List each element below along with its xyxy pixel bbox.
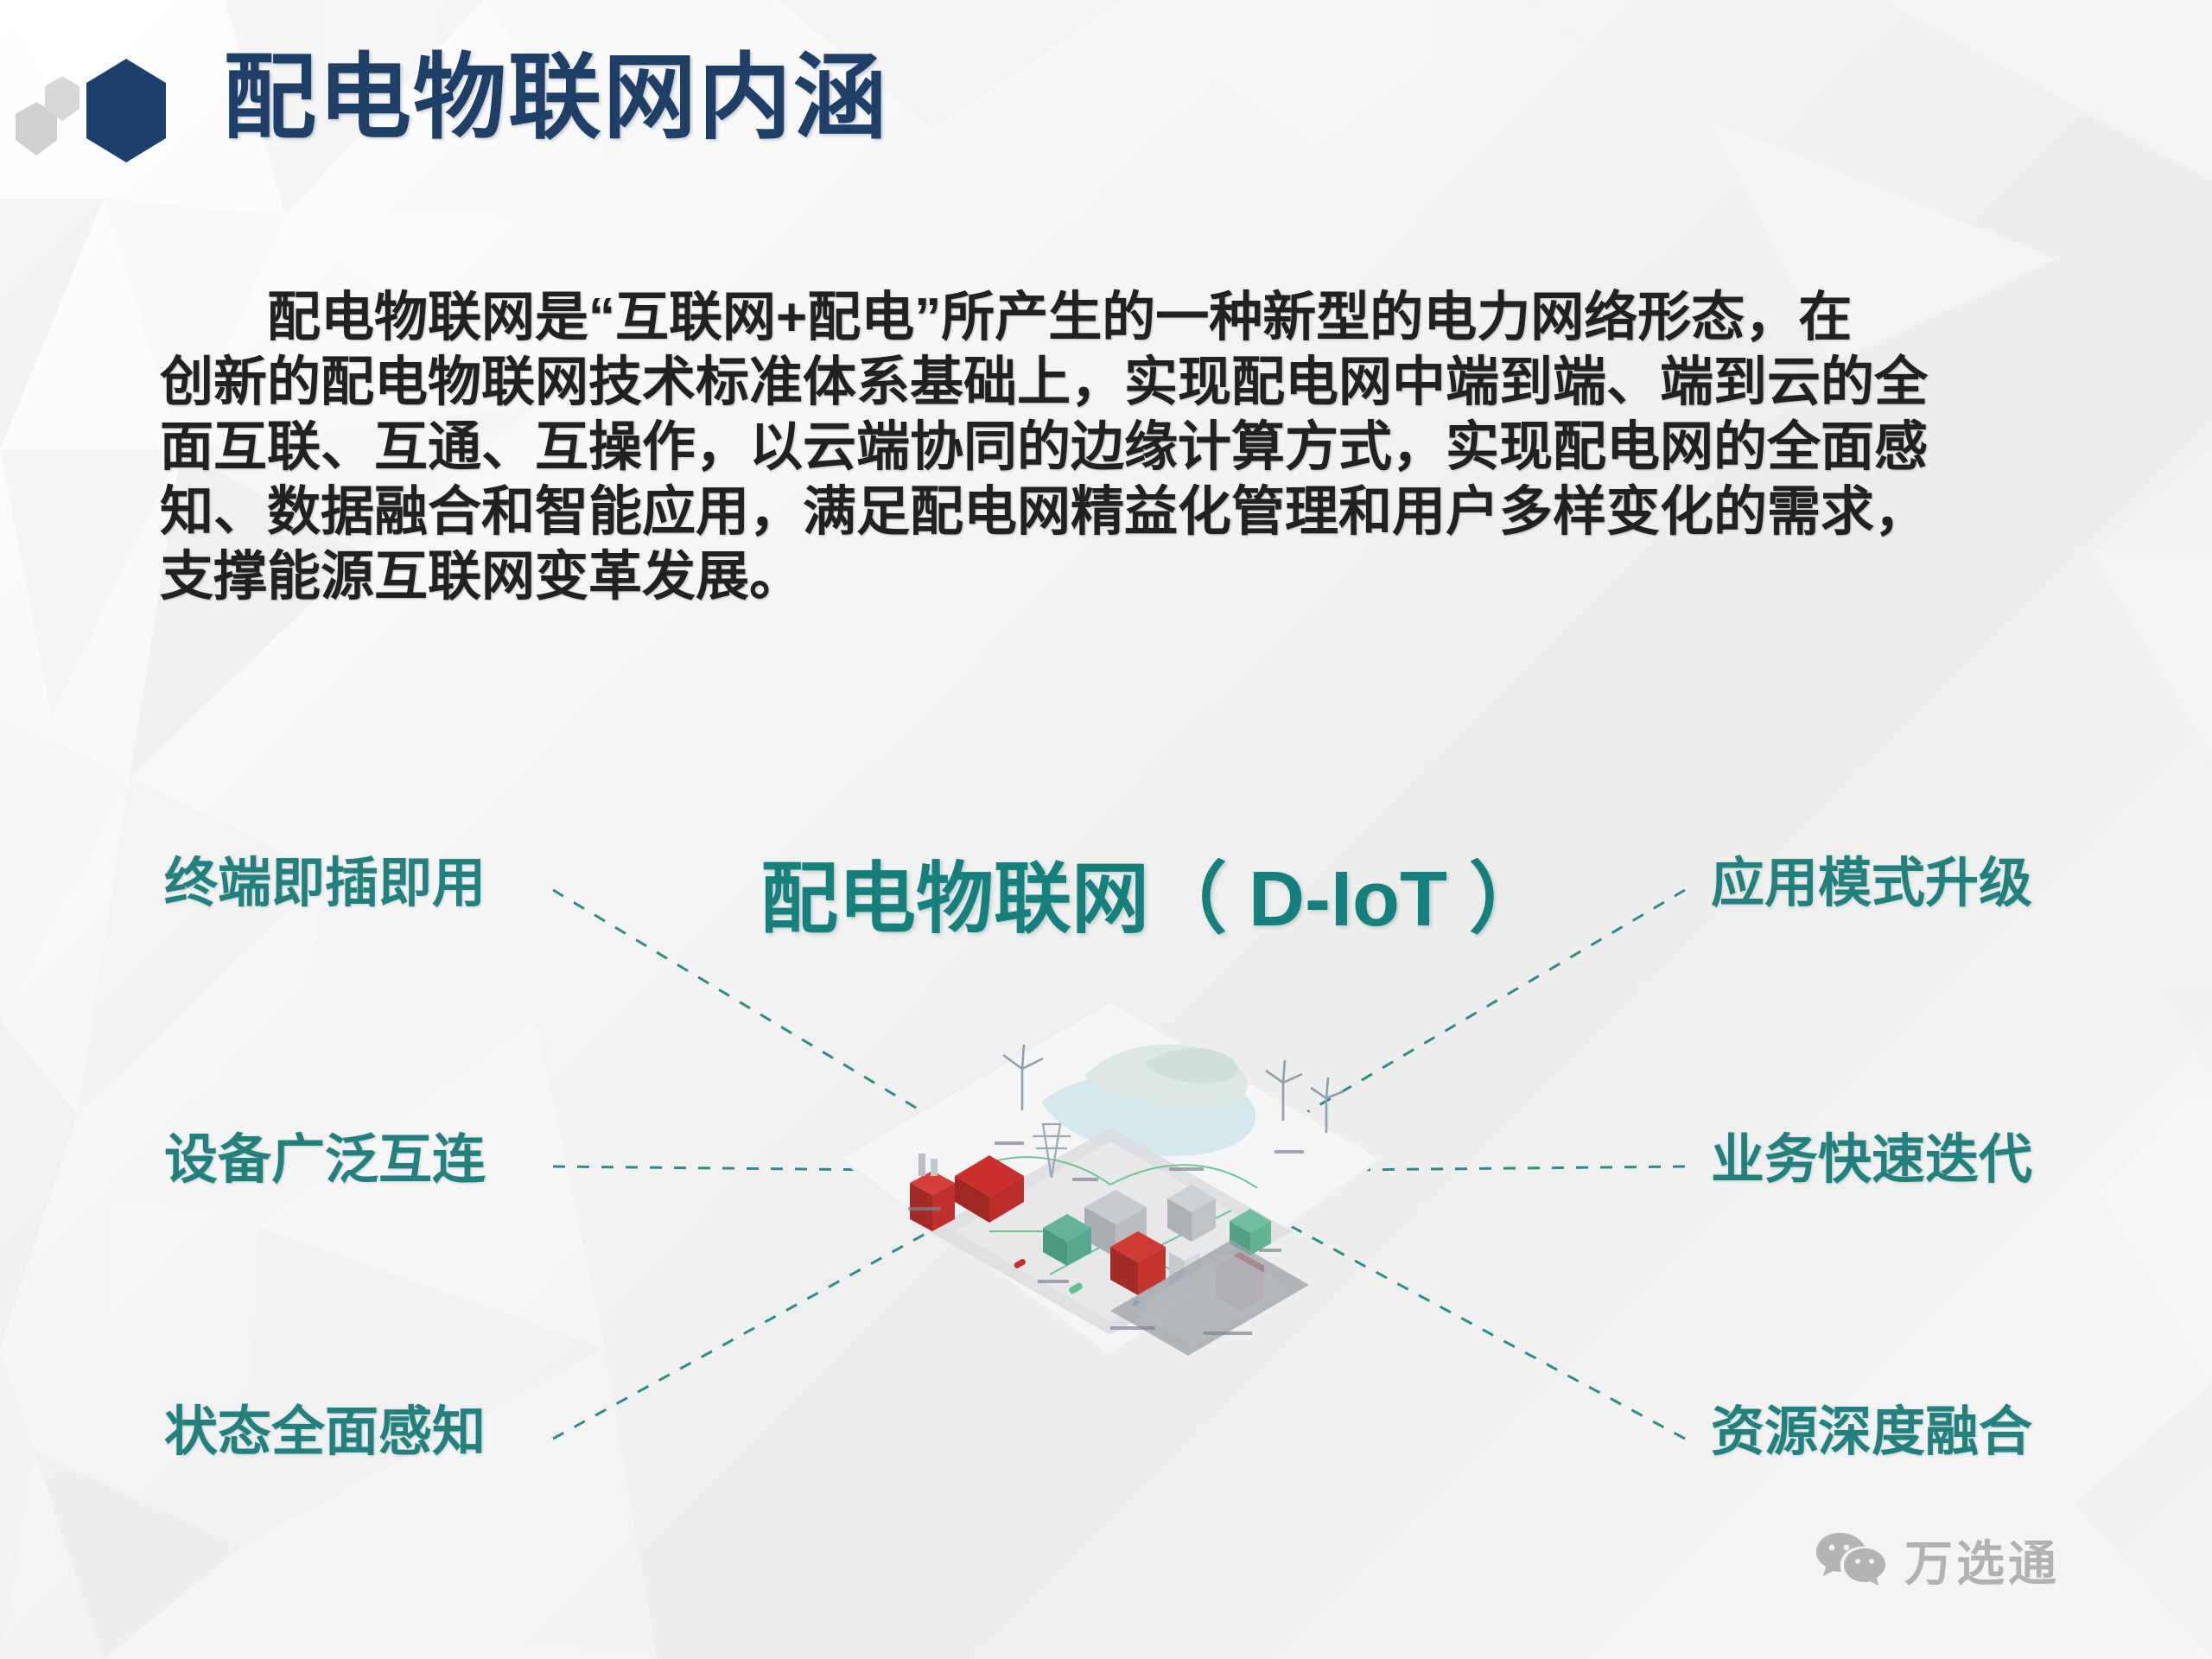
spoke-label-left-bottom: 状态全面感知 — [164, 1400, 486, 1465]
watermark: 万选通 — [1815, 1525, 2060, 1595]
wechat-icon — [1815, 1529, 1885, 1591]
paragraph-line: 知、数据融合和智能应用，满足配电网精益化管理和用户多样变化的需求， — [160, 480, 2052, 544]
page-title: 配电物联网内涵 — [223, 33, 888, 162]
spoke-label-right-top: 应用模式升级 — [1711, 851, 2032, 917]
spoke-label-left-top: 终端即插即用 — [164, 851, 486, 917]
body-paragraph: 配电物联网是“互联网+配电”所产生的一种新型的电力网络形态，在 创新的配电物联网… — [160, 285, 2052, 609]
paragraph-line: 配电物联网是“互联网+配电”所产生的一种新型的电力网络形态，在 — [160, 285, 2052, 350]
slide-canvas: 配电物联网内涵 配电物联网是“互联网+配电”所产生的一种新型的电力网络形态，在 … — [0, 0, 2212, 1659]
paragraph-line: 创新的配电物联网技术标准体系基础上，实现配电网中端到端、端到云的全 — [160, 350, 2052, 415]
spoke-label-left-mid: 设备广泛互连 — [164, 1128, 486, 1193]
paragraph-line: 面互联、互通、互操作，以云端协同的边缘计算方式，实现配电网的全面感 — [160, 415, 2052, 480]
slide-header: 配电物联网内涵 — [0, 0, 2212, 207]
spoke-label-right-mid: 业务快速迭代 — [1711, 1128, 2032, 1193]
hexagon-bullet-icon — [86, 59, 166, 162]
hexagon-decor-icon-inner — [45, 76, 79, 121]
paragraph-line: 支撑能源互联网变革发展。 — [160, 544, 2052, 609]
diagram-center-title: 配电物联网（ D-IoT ） — [760, 851, 1547, 948]
spoke-label-right-bottom: 资源深度融合 — [1711, 1400, 2032, 1465]
power-grid-isometric-illustration — [825, 972, 1395, 1378]
watermark-text: 万选通 — [1904, 1525, 2060, 1595]
